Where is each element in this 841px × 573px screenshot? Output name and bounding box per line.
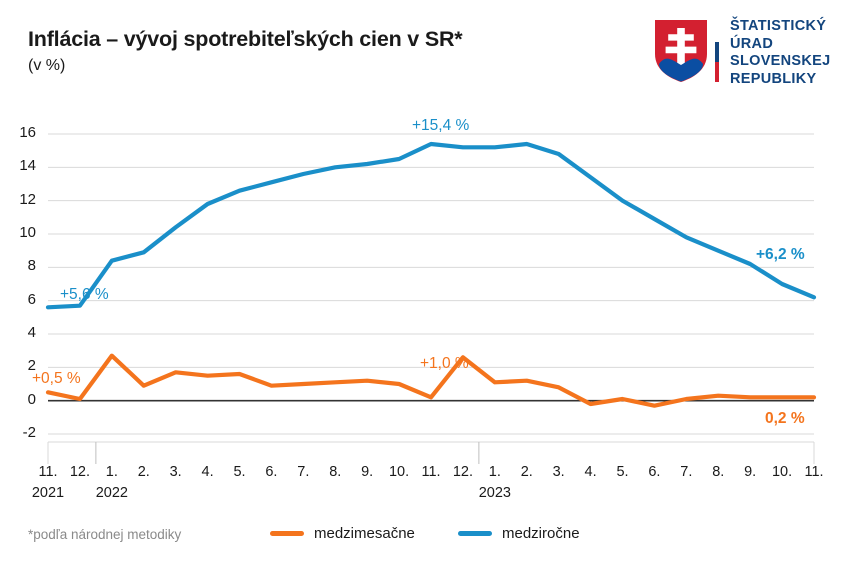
x-axis-tick-label: 8. <box>712 464 724 480</box>
y-axis-tick-label: 14 <box>2 157 36 174</box>
legend-color-swatch <box>270 531 304 536</box>
legend-item-medziročne[interactable]: medziročne <box>458 525 580 542</box>
x-axis-tick-label: 5. <box>233 464 245 480</box>
legend-item-medzimesačne[interactable]: medzimesačne <box>270 525 415 542</box>
x-axis-tick-label: 11. <box>804 464 823 480</box>
x-axis-tick-label: 6. <box>265 464 277 480</box>
slovak-coat-of-arms-icon <box>655 20 707 82</box>
x-axis-tick-label: 12. <box>70 464 90 480</box>
x-axis-tick-label: 6. <box>648 464 660 480</box>
x-axis-tick-label: 10. <box>389 464 409 480</box>
y-axis-tick-label: -2 <box>2 424 36 441</box>
tricolor-bar-icon <box>715 22 719 82</box>
x-axis-tick-label: 7. <box>680 464 692 480</box>
x-axis-tick-label: 3. <box>553 464 565 480</box>
x-axis-year-label: 2023 <box>479 485 511 501</box>
chart-footer: *podľa národnej metodiky medzimesačnemed… <box>0 515 841 573</box>
x-axis-tick-label: 9. <box>361 464 373 480</box>
annotation-label: +15,4 % <box>412 117 469 135</box>
series-line-medziročne <box>48 144 814 307</box>
x-axis-year-label: 2022 <box>96 485 128 501</box>
organisation-logo: ŠTATISTICKÝ ÚRAD SLOVENSKEJ REPUBLIKY <box>655 18 835 102</box>
annotation-label: +6,2 % <box>756 246 805 264</box>
x-axis-tick-label: 12. <box>453 464 473 480</box>
y-axis-tick-label: 8 <box>2 257 36 274</box>
x-axis-tick-label: 7. <box>297 464 309 480</box>
legend-label: medziročne <box>502 525 580 542</box>
logo-line-4: REPUBLIKY <box>730 71 831 89</box>
x-axis-tick-label: 1. <box>106 464 118 480</box>
x-axis: 11.12.1.2.3.4.5.6.7.8.9.10.11.12.1.2.3.4… <box>0 440 841 515</box>
y-axis-tick-label: 16 <box>2 124 36 141</box>
y-axis-tick-label: 4 <box>2 324 36 341</box>
x-axis-tick-label: 10. <box>772 464 792 480</box>
x-axis-tick-label: 11. <box>421 464 440 480</box>
x-axis-tick-label: 1. <box>489 464 501 480</box>
x-axis-year-label: 2021 <box>32 485 64 501</box>
logo-line-1: ŠTATISTICKÝ <box>730 18 831 36</box>
logo-line-3: SLOVENSKEJ <box>730 53 831 71</box>
x-axis-tick-label: 4. <box>202 464 214 480</box>
chart-canvas <box>0 110 841 470</box>
annotation-label: +5,6 % <box>60 286 109 304</box>
annotation-label: +0,5 % <box>32 370 81 388</box>
logo-text: ŠTATISTICKÝ ÚRAD SLOVENSKEJ REPUBLIKY <box>730 18 831 88</box>
x-axis-tick-label: 2. <box>138 464 150 480</box>
y-axis-tick-label: 6 <box>2 291 36 308</box>
footnote-text: *podľa národnej metodiky <box>28 527 181 542</box>
x-axis-tick-label: 9. <box>744 464 756 480</box>
page-title: Inflácia – vývoj spotrebiteľských cien v… <box>28 27 462 52</box>
y-axis-tick-label: 0 <box>2 391 36 408</box>
logo-line-2: ÚRAD <box>730 36 831 54</box>
annotation-label: 0,2 % <box>765 410 805 428</box>
legend-label: medzimesačne <box>314 525 415 542</box>
y-axis-tick-label: 2 <box>2 357 36 374</box>
x-axis-tick-label: 3. <box>170 464 182 480</box>
x-axis-tick-label: 4. <box>585 464 597 480</box>
chart-header: Inflácia – vývoj spotrebiteľských cien v… <box>0 0 841 110</box>
chart-plot-area: -20246810121416 +5,6 %+15,4 %+6,2 %+0,5 … <box>0 110 841 470</box>
y-axis-tick-label: 10 <box>2 224 36 241</box>
x-axis-tick-label: 5. <box>616 464 628 480</box>
legend-color-swatch <box>458 531 492 536</box>
x-axis-tick-label: 11. <box>38 464 57 480</box>
annotation-label: +1,0 % <box>420 355 469 373</box>
x-axis-tick-label: 2. <box>521 464 533 480</box>
page-subtitle: (v %) <box>28 57 65 75</box>
y-axis-tick-label: 12 <box>2 191 36 208</box>
x-axis-tick-label: 8. <box>329 464 341 480</box>
